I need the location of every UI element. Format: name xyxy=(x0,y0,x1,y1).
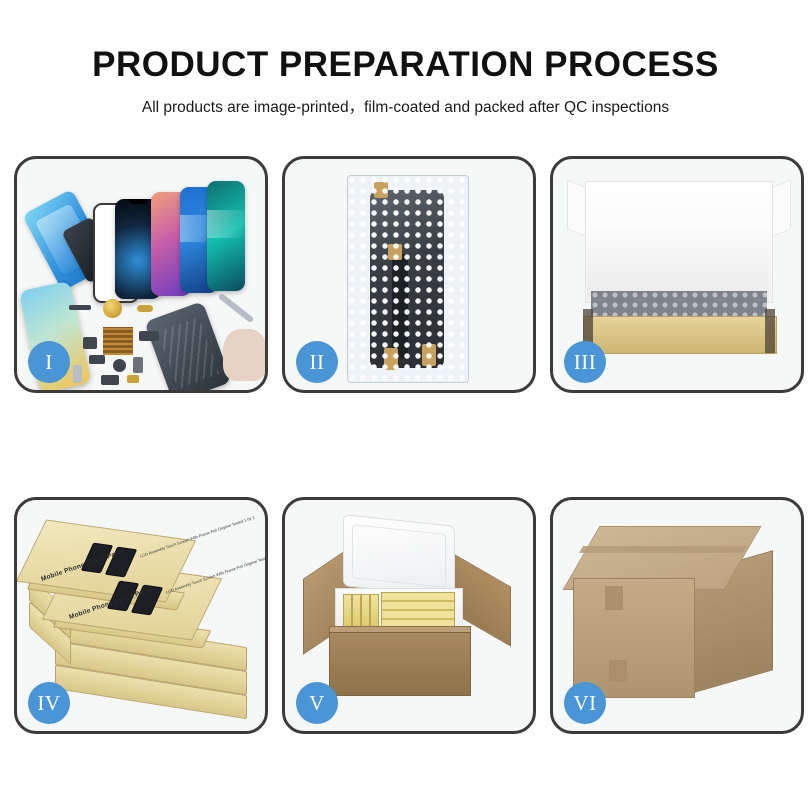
process-step-panel-6: VI xyxy=(550,497,804,734)
process-step-panel-4: Mobile Phone Spare Parts Mobile Phone Sp… xyxy=(14,497,268,734)
process-step-panel-3: III xyxy=(550,156,804,393)
bubble-wrap-bag xyxy=(347,175,469,383)
spare-part xyxy=(137,305,153,312)
spare-part xyxy=(83,337,97,349)
box-base xyxy=(583,316,777,354)
phone-screen-teal xyxy=(207,181,245,291)
step-badge-3: III xyxy=(564,341,606,383)
product-preparation-infographic: PRODUCT PREPARATION PROCESS All products… xyxy=(0,0,811,811)
carton-tape-patch xyxy=(605,586,623,610)
copper-coil-part xyxy=(103,299,122,318)
technician-hand xyxy=(223,329,267,381)
spare-part xyxy=(133,357,143,373)
process-step-panel-1: I xyxy=(14,156,268,393)
step-badge-2: II xyxy=(296,341,338,383)
process-steps-grid: I II xyxy=(14,156,803,756)
step-badge-5: V xyxy=(296,682,338,724)
carton-tape-patch xyxy=(609,660,627,682)
spare-part xyxy=(127,375,139,383)
spare-part xyxy=(73,365,82,383)
spare-part xyxy=(89,355,105,364)
carton-top-seam xyxy=(579,546,747,553)
header: PRODUCT PREPARATION PROCESS All products… xyxy=(0,0,811,117)
connector-tab xyxy=(384,348,398,370)
connector-tab xyxy=(374,182,388,198)
chip-grid-part xyxy=(103,327,133,355)
carton-body xyxy=(329,632,471,696)
step-badge-6: VI xyxy=(564,682,606,724)
process-step-panel-5: V xyxy=(282,497,536,734)
connector-tab xyxy=(388,244,402,260)
page-subtitle: All products are image-printed，film-coat… xyxy=(0,84,811,117)
tweezers-tool xyxy=(218,293,255,324)
lcd-screen xyxy=(370,190,444,368)
spare-part xyxy=(69,305,91,310)
phone-back-housing xyxy=(144,301,232,393)
spare-part xyxy=(101,375,119,385)
foam-box-lid xyxy=(343,514,455,598)
step-badge-4: IV xyxy=(28,682,70,724)
spare-part xyxy=(113,359,126,372)
flex-cable xyxy=(392,254,408,358)
box-inner-wall xyxy=(587,219,769,297)
connector-tab xyxy=(422,344,436,366)
step-badge-1: I xyxy=(28,341,70,383)
spare-part xyxy=(139,331,159,341)
page-title: PRODUCT PREPARATION PROCESS xyxy=(0,0,811,84)
process-step-panel-2: II xyxy=(282,156,536,393)
box-edge-right xyxy=(765,309,775,353)
bubble-wrap-contents xyxy=(591,291,767,319)
carton-front-face xyxy=(573,578,695,698)
